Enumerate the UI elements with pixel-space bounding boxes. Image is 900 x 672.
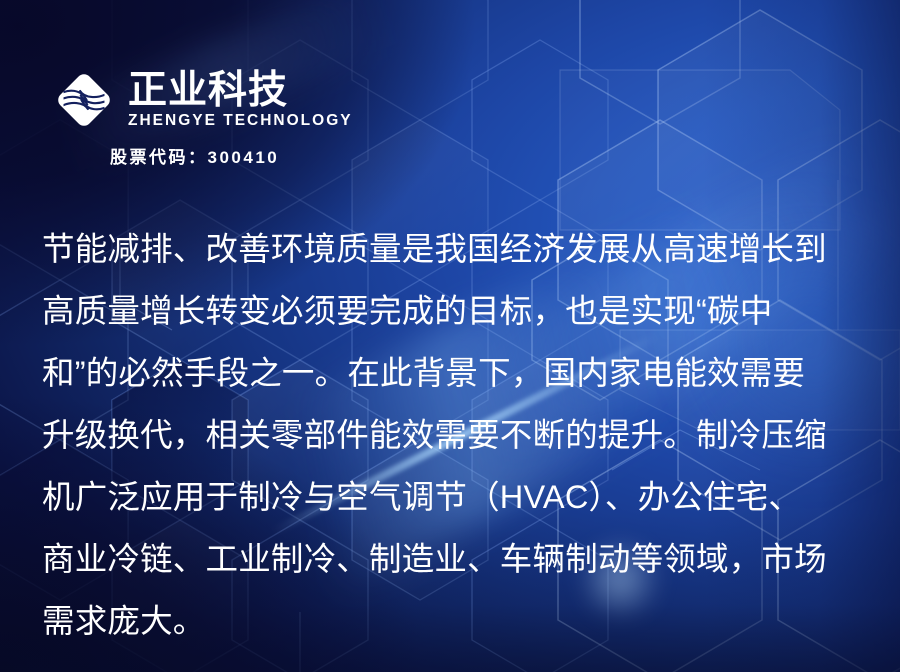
brand-name-cn: 正业科技 — [128, 70, 353, 111]
brand-name-en: ZHENGYE TECHNOLOGY — [128, 112, 353, 130]
paragraph-line: 和”的必然手段之一。在此背景下，国内家电能效需要 — [42, 342, 868, 404]
stock-code-text: 股票代码：300410 — [110, 143, 353, 168]
brand-logo-row: 正业科技 ZHENGYE TECHNOLOGY — [52, 68, 353, 132]
poster-canvas: 正业科技 ZHENGYE TECHNOLOGY 股票代码：300410 节能减排… — [0, 0, 900, 672]
zhengye-swirl-diamond-logo-icon — [52, 68, 116, 132]
paragraph-line: 高质量增长转变必须要完成的目标，也是实现“碳中 — [42, 280, 868, 342]
brand-wordmark: 正业科技 ZHENGYE TECHNOLOGY — [128, 70, 353, 130]
paragraph-line: 需求庞大。 — [42, 590, 868, 652]
brand-logo-block: 正业科技 ZHENGYE TECHNOLOGY 股票代码：300410 — [52, 68, 353, 168]
paragraph-line: 机广泛应用于制冷与空气调节（HVAC）、办公住宅、 — [42, 466, 868, 528]
paragraph-block: 节能减排、改善环境质量是我国经济发展从高速增长到 高质量增长转变必须要完成的目标… — [42, 218, 868, 652]
paragraph-line: 节能减排、改善环境质量是我国经济发展从高速增长到 — [42, 218, 868, 280]
paragraph-line: 商业冷链、工业制冷、制造业、车辆制动等领域，市场 — [42, 528, 868, 590]
paragraph-line: 升级换代，相关零部件能效需要不断的提升。制冷压缩 — [42, 404, 868, 466]
